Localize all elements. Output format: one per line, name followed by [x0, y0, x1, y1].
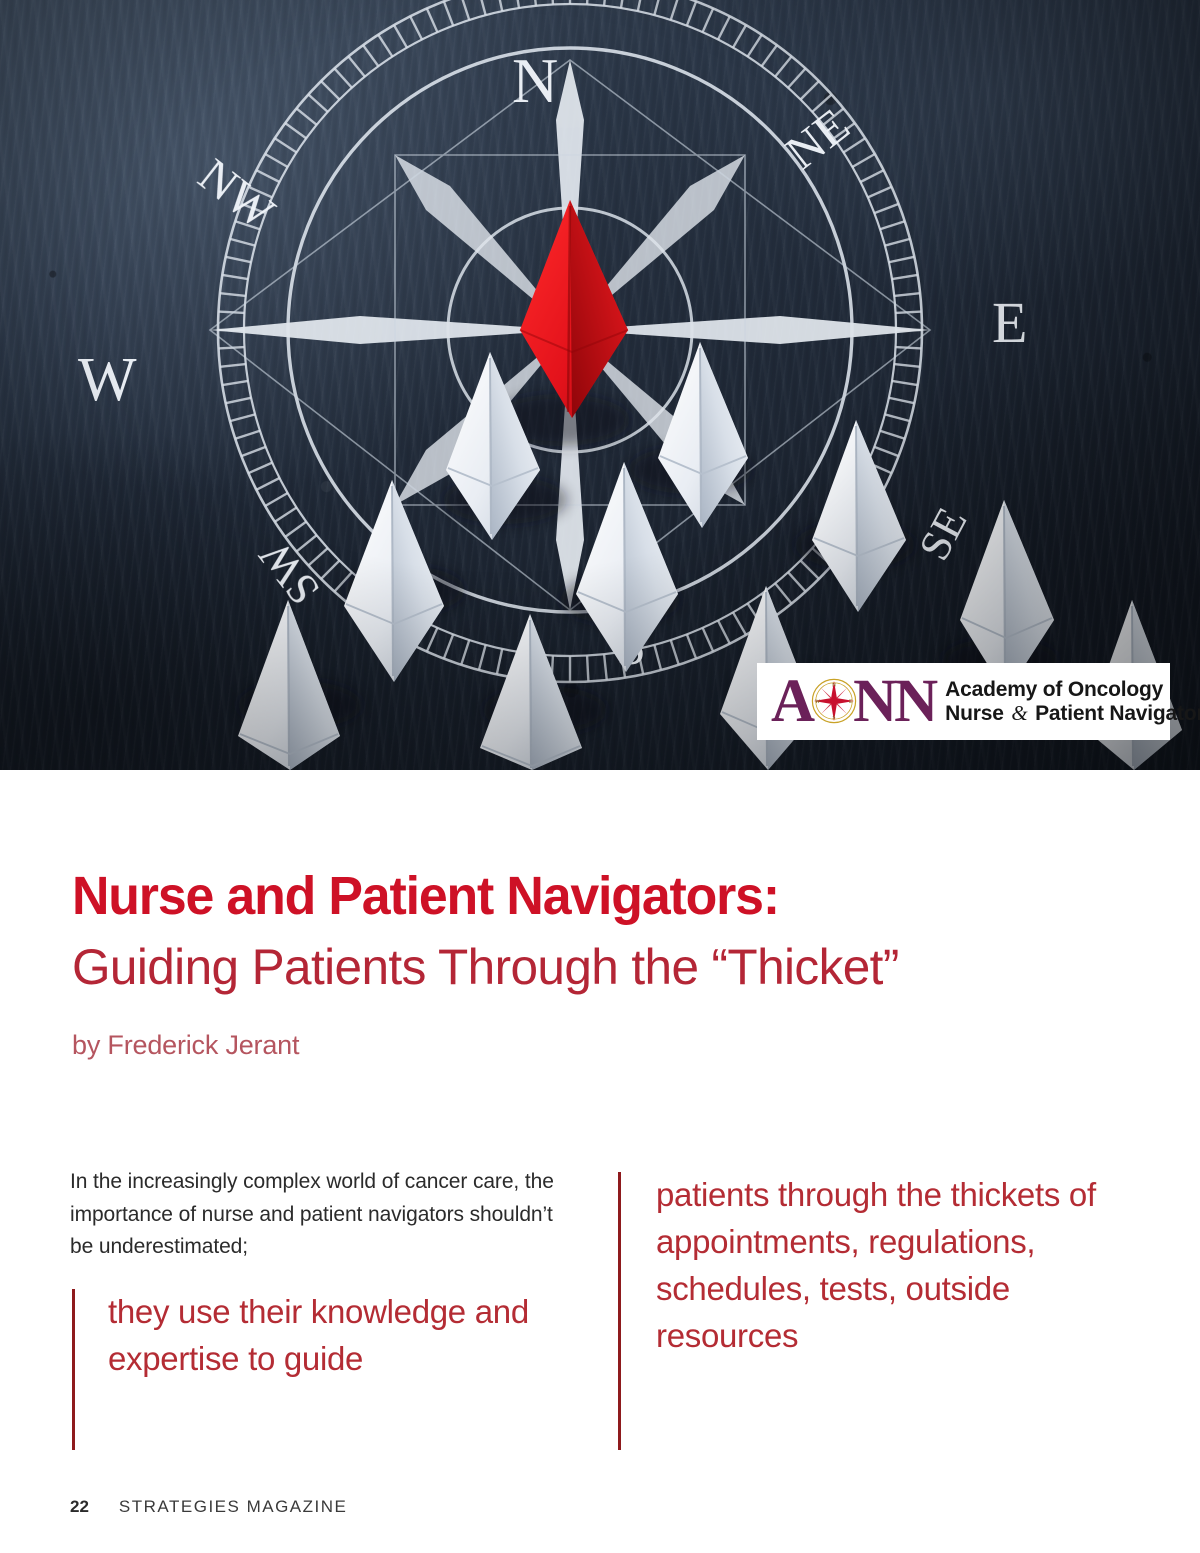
- logo-nurse-text: Nurse: [945, 702, 1009, 725]
- aonn-logo-mark: A N S: [771, 675, 935, 729]
- page-number: 22: [70, 1497, 89, 1517]
- article-byline: by Frederick Jerant: [72, 1029, 1152, 1061]
- article-header: Nurse and Patient Navigators: Guiding Pa…: [72, 868, 1152, 1062]
- logo-letters-nn: NN: [853, 675, 935, 729]
- hero-image: N NE E SE S SW W NW: [0, 0, 1200, 770]
- pullquote-right-text: patients through the thickets of appoint…: [656, 1172, 1118, 1359]
- pullquote-right: patients through the thickets of appoint…: [618, 1166, 1118, 1444]
- logo-navigators-text: Patient Navigators: [1029, 702, 1200, 725]
- aonn-logo: A N S: [757, 663, 1170, 740]
- pullquote-left-text: they use their knowledge and expertise t…: [108, 1289, 570, 1383]
- svg-text:W: W: [815, 699, 821, 705]
- logo-line-academy: Academy of Oncology: [945, 678, 1200, 702]
- magazine-page: N NE E SE S SW W NW: [0, 0, 1200, 1553]
- logo-ampersand: &: [1009, 701, 1029, 725]
- pullquote-left: they use their knowledge and expertise t…: [70, 1289, 570, 1450]
- logo-letter-a: A: [771, 675, 814, 729]
- svg-text:S: S: [833, 716, 836, 722]
- svg-text:N: N: [832, 683, 836, 689]
- lede-paragraph: In the increasingly complex world of can…: [70, 1166, 570, 1264]
- left-column: In the increasingly complex world of can…: [70, 1166, 570, 1450]
- logo-line-nurse: Nurse & Patient Navigators®: [945, 702, 1200, 726]
- hero-vignette: [0, 0, 1200, 770]
- publication-name: STRATEGIES MAGAZINE: [119, 1497, 347, 1517]
- page-footer: 22 STRATEGIES MAGAZINE: [70, 1497, 347, 1517]
- aonn-logo-wordmark: Academy of Oncology Nurse & Patient Navi…: [945, 678, 1200, 726]
- article-headline: Nurse and Patient Navigators:: [72, 868, 1109, 924]
- article-subhead: Guiding Patients Through the “Thicket”: [72, 940, 1141, 995]
- right-column: patients through the thickets of appoint…: [618, 1166, 1118, 1444]
- compass-rose-icon: N S W E: [810, 677, 858, 725]
